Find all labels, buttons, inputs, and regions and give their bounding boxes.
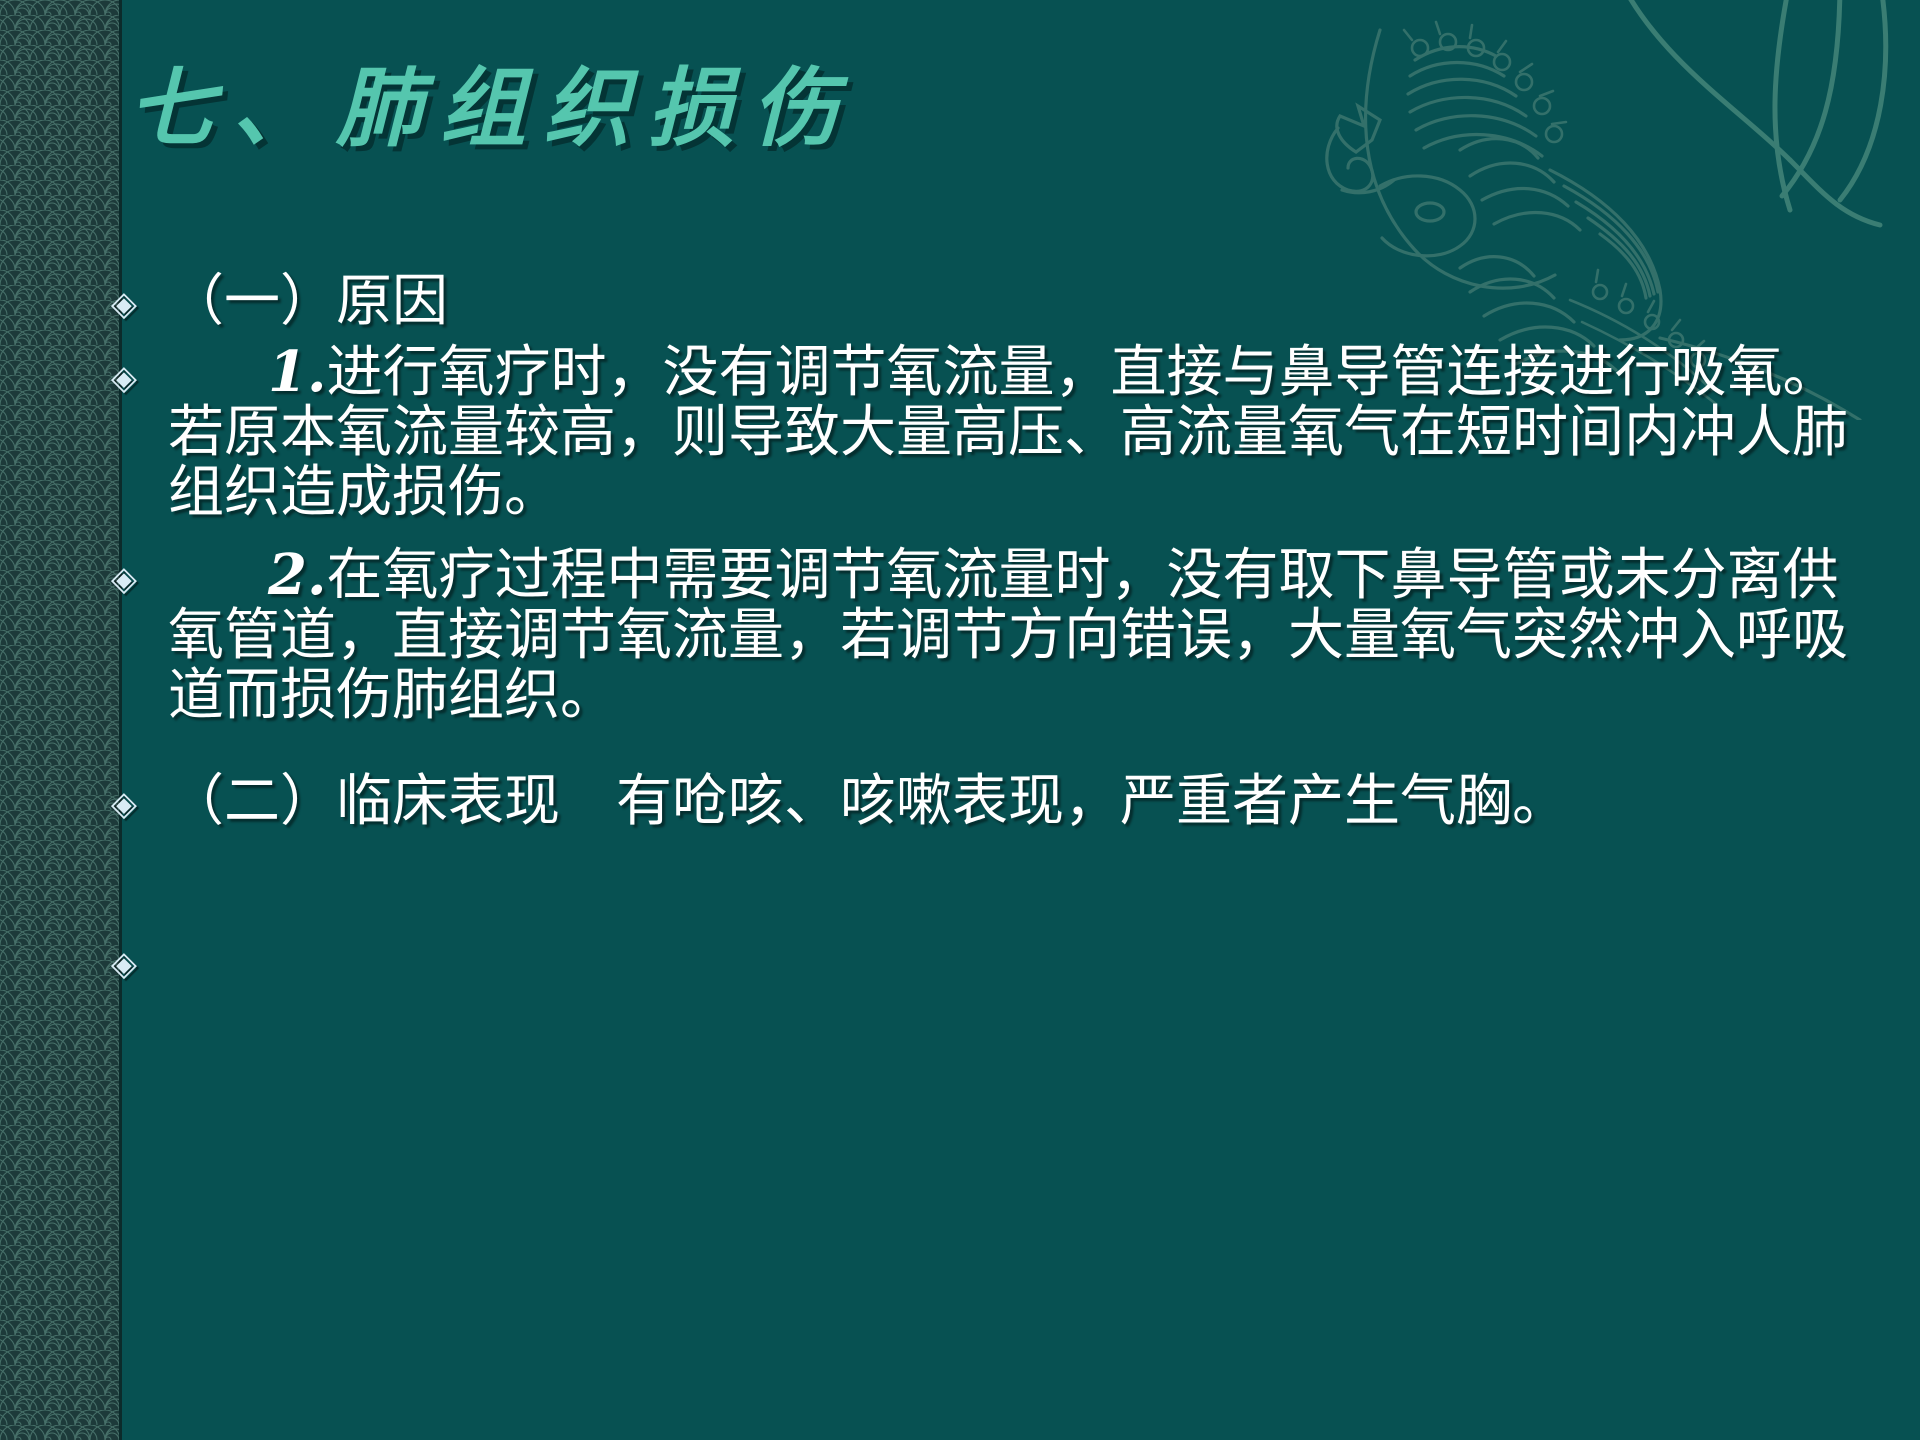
body-content: ◈ （一）原因 ◈ 1.进行氧疗时，没有调节氧流量，直接与鼻导管连接进行吸氧。若…: [100, 272, 1890, 982]
cause-2-text: 在氧疗过程中需要调节氧流量时，没有取下鼻导管或未分离供氧管道，直接调节氧流量，若…: [168, 545, 1848, 727]
clinical-heading-text: （二）临床表现 有呛咳、咳嗽表现，严重者产生气胸。: [168, 772, 1890, 832]
list-item: ◈ （一）原因: [100, 272, 1890, 332]
cause-1-text: 进行氧疗时，没有调节氧流量，直接与鼻导管连接进行吸氧。若原本氧流量较高，则导致大…: [168, 342, 1848, 524]
diamond-bullet-icon: ◈: [102, 288, 146, 322]
list-item: ◈ 1.进行氧疗时，没有调节氧流量，直接与鼻导管连接进行吸氧。若原本氧流量较高，…: [100, 342, 1890, 523]
diamond-bullet-icon: ◈: [102, 948, 146, 982]
list-item: ◈ 2.在氧疗过程中需要调节氧流量时，没有取下鼻导管或未分离供氧管道，直接调节氧…: [100, 545, 1890, 726]
page-title: 七、肺组织损伤: [128, 38, 856, 163]
cause-heading-text: （一）原因: [168, 272, 1890, 332]
cause-1-number: 1.: [268, 339, 326, 405]
diamond-bullet-icon: ◈: [102, 563, 146, 597]
diamond-bullet-icon: ◈: [102, 362, 146, 396]
diamond-bullet-icon: ◈: [102, 788, 146, 822]
cause-2-number: 2.: [268, 542, 326, 608]
list-item: ◈: [100, 942, 1890, 982]
slide: 七、肺组织损伤 ◈ （一）原因 ◈ 1.进行氧疗时，没有调节氧流量，直接与鼻导管…: [0, 0, 1920, 1440]
list-item: ◈ （二）临床表现 有呛咳、咳嗽表现，严重者产生气胸。: [100, 772, 1890, 832]
